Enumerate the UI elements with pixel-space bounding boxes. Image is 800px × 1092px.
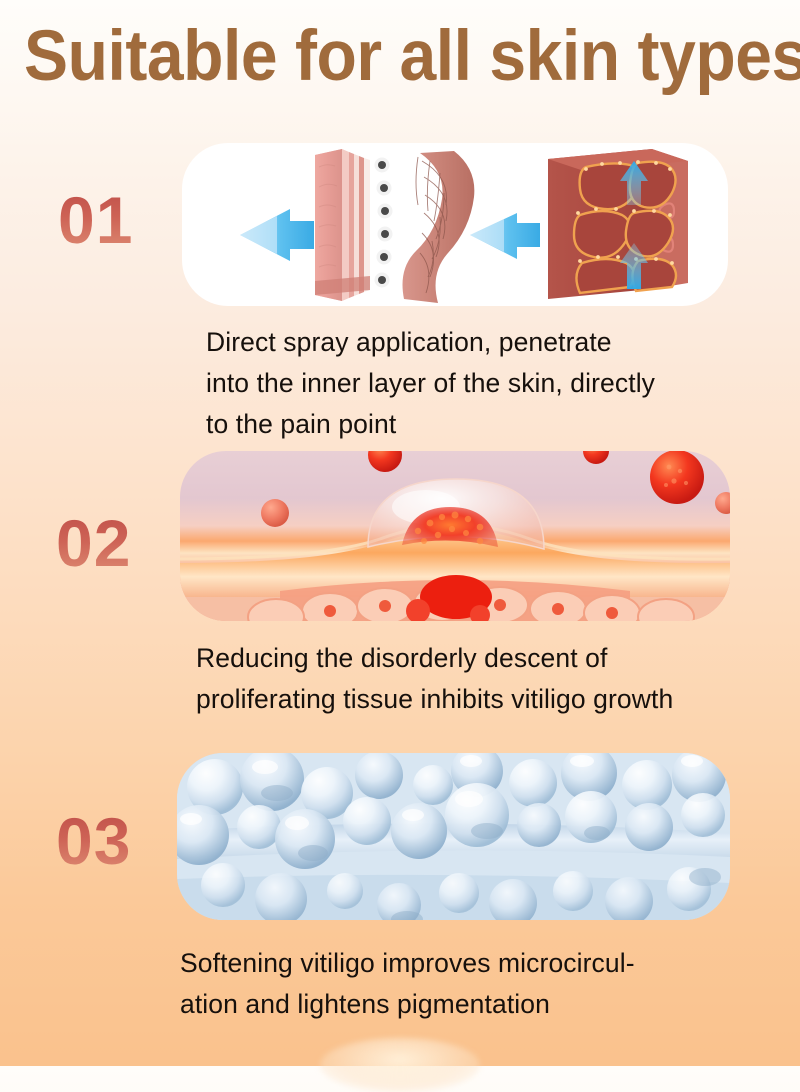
follicle-dots: [375, 158, 393, 288]
step-02-caption: Reducing the disorderly descent of proli…: [196, 638, 776, 720]
inflamed-skin-illustration: [180, 451, 730, 621]
absorption-arrow-down: [620, 243, 648, 289]
core-granules: [415, 512, 484, 545]
droplet-highlights: [180, 755, 703, 830]
dermis-3d-block: [548, 149, 688, 299]
dermal-cell-layer: [180, 575, 730, 621]
collagen-mesh-wave: [403, 151, 475, 303]
absorption-arrow-up: [620, 161, 648, 205]
step-number-01: 01: [58, 187, 188, 253]
droplet-cluster: [177, 753, 726, 920]
step-number-03: 03: [56, 808, 186, 874]
blister-core: [402, 507, 498, 547]
step-03-image-water-droplets-macro: [177, 753, 730, 920]
step-01-caption: Direct spray application, penetrate into…: [206, 322, 766, 445]
spray-arrow-middle: [470, 213, 540, 259]
water-droplets-illustration: [177, 753, 730, 920]
step-01-image-skin-layer-penetration-diagram: [182, 143, 728, 306]
cell-compartments: [574, 160, 676, 293]
skin-slab-layered: [315, 149, 393, 301]
bottom-glow-decoration: [320, 1038, 480, 1092]
floating-inflammatory-cells: [261, 451, 730, 527]
step-03-caption: Softening vitiligo improves microcircul-…: [180, 943, 780, 1025]
droplet-shadows: [261, 785, 721, 920]
skin-layer-penetration-illustration: [182, 143, 728, 306]
spray-arrow-left: [240, 209, 314, 261]
step-number-02: 02: [56, 510, 186, 576]
blister-dome: [368, 479, 544, 549]
inflammation-plug: [420, 575, 492, 619]
epidermis-membrane: [180, 529, 730, 597]
page-title: Suitable for all skin types: [24, 24, 731, 90]
water-background: [177, 753, 730, 920]
step-02-image-inflamed-skin-cross-section: [180, 451, 730, 621]
